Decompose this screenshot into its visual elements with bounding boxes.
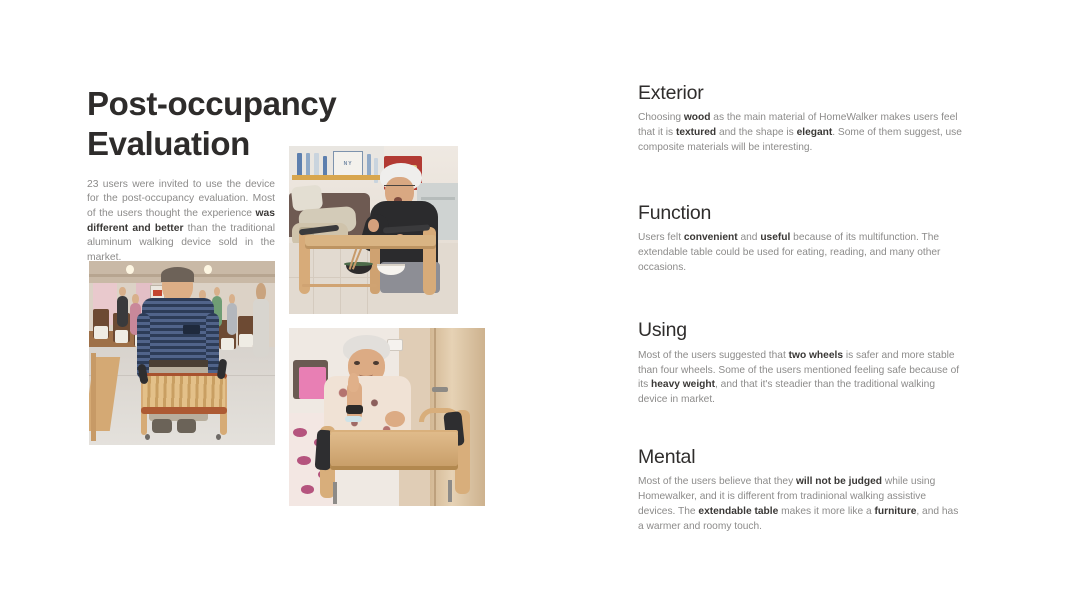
section-mental: Mental Most of the users believe that th… [638, 446, 964, 535]
photo-woman-eating: NY [289, 146, 458, 314]
section-using: Using Most of the users suggested that t… [638, 319, 964, 408]
intro-paragraph: 23 users were invited to use the device … [87, 178, 275, 266]
section-title-exterior: Exterior [638, 82, 964, 105]
section-function: Function Users felt convenient and usefu… [638, 202, 964, 276]
section-body-using: Most of the users suggested that two whe… [638, 349, 964, 408]
photo-woman-thumbs-up [289, 328, 485, 506]
section-title-function: Function [638, 202, 964, 225]
section-title-mental: Mental [638, 446, 964, 469]
slide-canvas: Post-occupancy Evaluation 23 users were … [0, 0, 1067, 600]
section-body-exterior: Choosing wood as the main material of Ho… [638, 111, 964, 155]
photo-man-walking [89, 261, 275, 445]
right-column: Exterior Choosing wood as the main mater… [638, 82, 964, 535]
section-body-function: Users felt convenient and useful because… [638, 231, 964, 275]
section-exterior: Exterior Choosing wood as the main mater… [638, 82, 964, 156]
section-title-using: Using [638, 319, 964, 342]
section-body-mental: Most of the users believe that they will… [638, 475, 964, 534]
